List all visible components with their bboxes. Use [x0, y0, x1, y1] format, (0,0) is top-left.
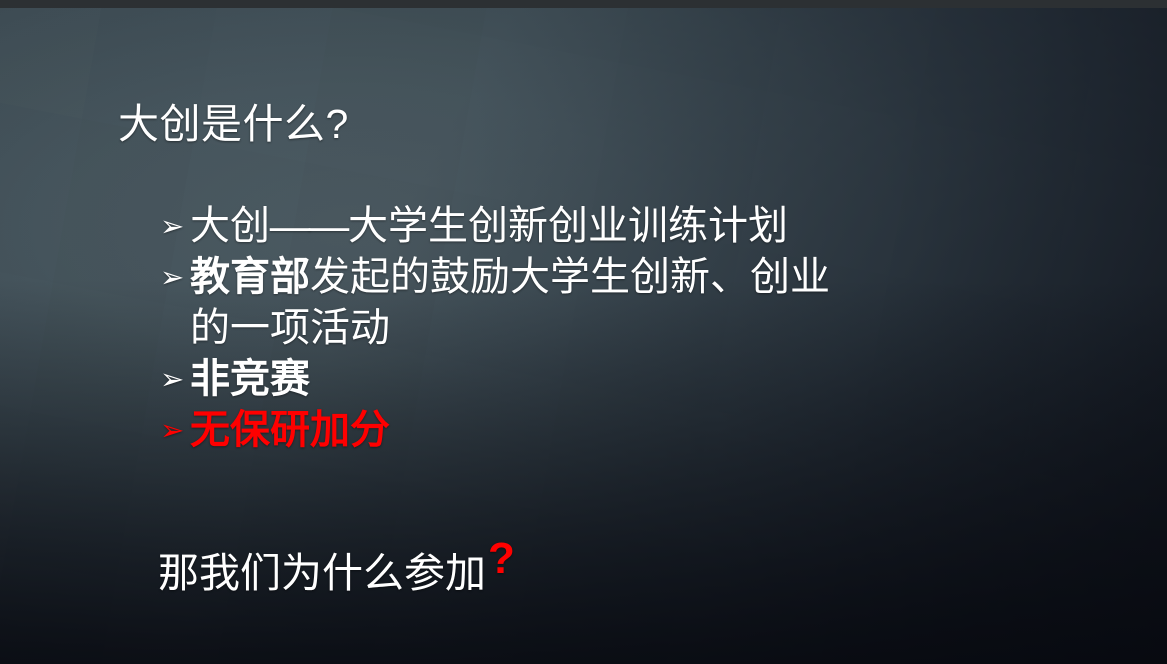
- bullet-item-3-text: 非竞赛: [190, 353, 1060, 404]
- bullet-item-3: ➢ 非竞赛: [160, 353, 1060, 404]
- arrow-bullet-icon: ➢: [160, 354, 190, 405]
- bullet-item-2-text: 教育部发起的鼓励大学生创新、创业: [190, 251, 1060, 302]
- bullet-2-rest: 发起的鼓励大学生创新、创业: [310, 254, 830, 299]
- bullet-1-rest: 大学生创新创业训练计划: [348, 203, 788, 248]
- slide-top-band: [0, 0, 1167, 8]
- bullet-item-1: ➢ 大创——大学生创新创业训练计划: [160, 200, 1060, 251]
- closing-question-mark: ?: [488, 534, 515, 583]
- arrow-bullet-icon: ➢: [160, 201, 190, 252]
- presentation-slide: 大创是什么? ➢ 大创——大学生创新创业训练计划 ➢ 教育部发起的鼓励大学生创新…: [0, 0, 1167, 664]
- bullet-item-2-continuation: 的一项活动: [160, 302, 1060, 353]
- page-title: 大创是什么?: [118, 101, 349, 148]
- arrow-bullet-icon: ➢: [160, 252, 190, 303]
- bullet-1-dash: ——: [270, 203, 348, 248]
- slide-body-content: ➢ 大创——大学生创新创业训练计划 ➢ 教育部发起的鼓励大学生创新、创业 的一项…: [160, 200, 1060, 455]
- bullet-1-lead: 大创: [190, 203, 270, 248]
- closing-question: 那我们为什么参加?: [158, 537, 515, 594]
- bullet-item-4-text: 无保研加分: [190, 404, 1060, 455]
- bullet-item-1-text: 大创——大学生创新创业训练计划: [190, 200, 1060, 251]
- closing-question-text: 那我们为什么参加: [158, 550, 486, 596]
- bullet-item-4: ➢ 无保研加分: [160, 404, 1060, 455]
- bullet-item-2: ➢ 教育部发起的鼓励大学生创新、创业: [160, 251, 1060, 302]
- bullet-2-lead: 教育部: [190, 254, 310, 299]
- arrow-bullet-icon: ➢: [160, 405, 190, 456]
